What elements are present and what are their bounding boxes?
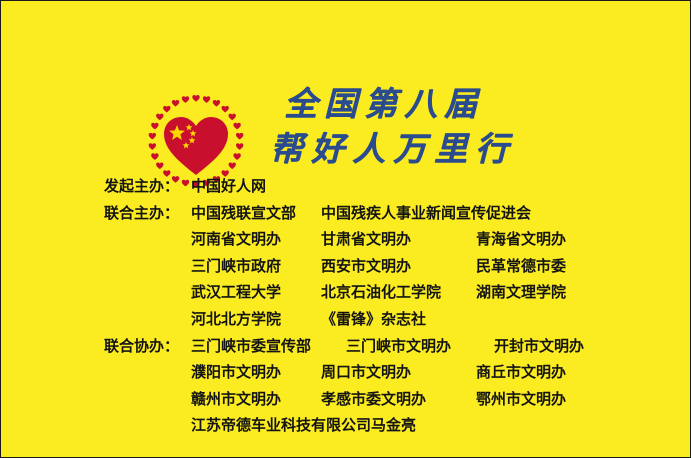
credit-item: 商丘市文明办 [476,359,596,386]
credit-item: 民革常德市委 [476,253,596,280]
credit-item: 河南省文明办 [191,226,321,253]
credits-list: 发起主办：中国好人网联合主办：中国残联宣文部中国残疾人事业新闻宣传促进会河南省文… [1,173,691,439]
credit-row-items: 中国好人网 [191,173,321,200]
credit-row-label: 发起主办： [104,173,179,200]
credit-row-items: 河南省文明办甘肃省文明办青海省文明办 [191,226,596,253]
credit-row: 江苏帝德车业科技有限公司马金亮 [1,412,691,439]
credit-item: 北京石油化工学院 [321,279,476,306]
small-heart-icon [151,153,158,160]
small-heart-icon [233,123,240,130]
small-heart-icon [222,106,229,113]
credit-item: 孝感市委文明办 [321,386,476,413]
small-heart-icon [151,123,158,130]
small-heart-icon [172,100,179,107]
small-heart-icon [163,106,170,113]
title-line-1: 全国第八届 [284,81,624,126]
small-heart-icon [203,96,210,103]
small-heart-icon [213,100,220,107]
small-heart-icon [192,95,199,102]
credit-item: 濮阳市文明办 [191,359,321,386]
credit-item: 周口市文明办 [321,359,476,386]
credit-row: 濮阳市文明办周口市文明办商丘市文明办 [1,359,691,386]
credit-row-items: 江苏帝德车业科技有限公司马金亮 [191,412,526,439]
credit-item: 中国残疾人事业新闻宣传促进会 [321,200,531,227]
credit-row-label: 联合主办： [104,200,179,227]
title-line-2: 帮好人万里行 [270,126,624,171]
credit-item: 三门峡市委宣传部 [191,333,346,360]
credit-row: 河北北方学院《雷锋》杂志社 [1,306,691,333]
credit-row-items: 濮阳市文明办周口市文明办商丘市文明办 [191,359,596,386]
small-heart-icon [182,96,189,103]
credit-row: 发起主办：中国好人网 [1,173,691,200]
poster-canvas: 全国第八届 帮好人万里行 发起主办：中国好人网联合主办：中国残联宣文部中国残疾人… [0,0,691,458]
credit-item: 开封市文明办 [494,333,614,360]
small-heart-icon [229,114,236,121]
credit-item: 三门峡市政府 [191,253,321,280]
small-heart-icon [233,153,240,160]
small-heart-icon [149,143,156,150]
credit-item: 湖南文理学院 [476,279,596,306]
poster-title: 全国第八届 帮好人万里行 [284,81,624,171]
small-heart-icon [236,143,243,150]
credit-item: 鄂州市文明办 [476,386,596,413]
credit-row: 联合主办：中国残联宣文部中国残疾人事业新闻宣传促进会 [1,200,691,227]
credit-row: 联合协办：三门峡市委宣传部三门峡市文明办开封市文明办 [1,333,691,360]
credit-row: 赣州市文明办孝感市委文明办鄂州市文明办 [1,386,691,413]
credit-item: 中国残联宣文部 [191,200,321,227]
small-heart-icon [156,114,163,121]
small-heart-icon [156,162,163,169]
credit-row-items: 赣州市文明办孝感市委文明办鄂州市文明办 [191,386,596,413]
credit-row-items: 三门峡市委宣传部三门峡市文明办开封市文明办 [191,333,614,360]
credit-item: 马金亮 [371,412,526,439]
credit-item: 武汉工程大学 [191,279,321,306]
credit-row-items: 三门峡市政府西安市文明办民革常德市委 [191,253,596,280]
credit-item: 赣州市文明办 [191,386,321,413]
credit-item: 西安市文明办 [321,253,476,280]
small-heart-icon [236,133,243,140]
credit-item: 中国好人网 [191,173,321,200]
credit-row: 武汉工程大学北京石油化工学院湖南文理学院 [1,279,691,306]
credit-row-label: 联合协办： [104,333,179,360]
credit-row: 河南省文明办甘肃省文明办青海省文明办 [1,226,691,253]
credit-row: 三门峡市政府西安市文明办民革常德市委 [1,253,691,280]
credit-row-items: 河北北方学院《雷锋》杂志社 [191,306,476,333]
small-heart-icon [229,162,236,169]
credit-item: 《雷锋》杂志社 [321,306,476,333]
small-heart-icon [149,133,156,140]
credit-item: 甘肃省文明办 [321,226,476,253]
credit-row-items: 中国残联宣文部中国残疾人事业新闻宣传促进会 [191,200,531,227]
credit-item: 河北北方学院 [191,306,321,333]
credit-item: 三门峡市文明办 [346,333,494,360]
credit-item: 青海省文明办 [476,226,596,253]
credit-row-items: 武汉工程大学北京石油化工学院湖南文理学院 [191,279,596,306]
banner: 全国第八届 帮好人万里行 [1,35,691,155]
credit-item: 江苏帝德车业科技有限公司 [191,412,371,439]
